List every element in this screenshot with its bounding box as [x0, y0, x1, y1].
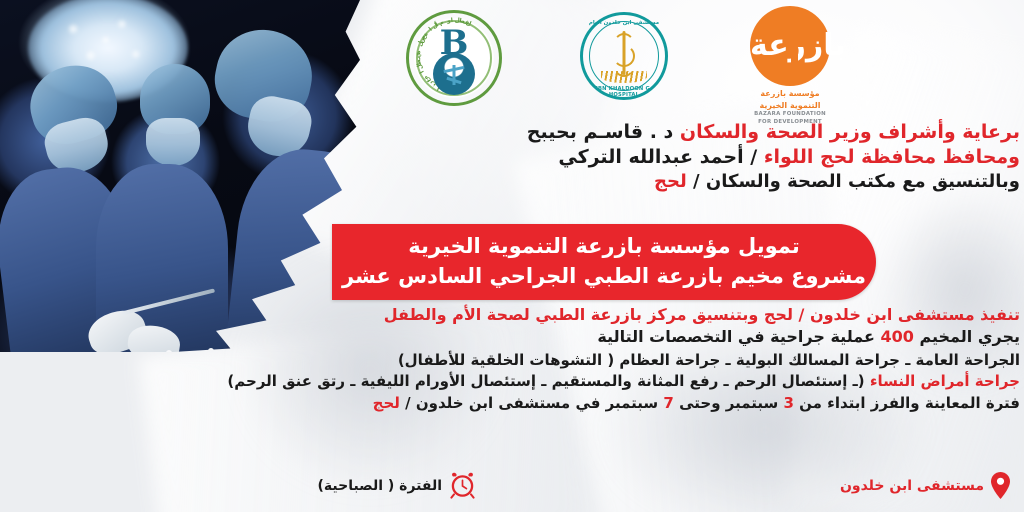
- footer-location: مستشفى ابن خلدون: [840, 472, 1010, 499]
- patronage-line-3: وبالتنسيق مع مكتب الصحة والسكان / لحج: [120, 172, 1024, 191]
- operations-suffix: عملية جراحية في التخصصات التالية: [597, 327, 875, 346]
- execution-line: تنفيذ مستشفى ابن خلدون / لحج وبتنسيق مرك…: [90, 306, 1024, 323]
- operations-count: 400: [880, 327, 913, 346]
- bazara-english-line1: BAZARA FOUNDATION: [750, 111, 830, 117]
- screening-middle: سبتمبر وحتى: [679, 394, 778, 412]
- surgical-camp-poster: مؤسسة بازرعة الطبية لصحة الأم والطفل B م…: [0, 0, 1024, 512]
- gynecology-line: جراحة أمراض النساء (ـ إستئصال الرحم ـ رف…: [90, 373, 1024, 389]
- red-banner: تمويل مؤسسة بازرعة التنموية الخيرية مشرو…: [332, 224, 876, 300]
- screening-venue: سبتمبر في مستشفى ابن خلدون /: [405, 394, 658, 412]
- screening-governorate: لحج: [373, 394, 400, 412]
- patronage-minister-name: د . قاسـم بحيبح: [527, 121, 674, 143]
- screening-start-day: 3: [784, 394, 794, 412]
- screening-period-line: فترة المعاينة والفرز ابتداء من 3 سبتمبر …: [90, 395, 1024, 411]
- logo-row: مؤسسة بازرعة الطبية لصحة الأم والطفل B م…: [390, 4, 910, 122]
- hospital-logo-english: IBN KHALDOON G. HOSPITAL: [583, 86, 665, 98]
- patronage-minister-role: برعاية وأشراف وزير الصحة والسكان: [680, 121, 1020, 143]
- logo-mother-child-foundation: مؤسسة بازرعة الطبية لصحة الأم والطفل B: [406, 10, 502, 106]
- specialties-line: الجراحة العامة ـ جراحة المسالك البولية ـ…: [90, 352, 1024, 368]
- coordination-governorate: لحج: [654, 171, 687, 192]
- banner-project-line: مشروع مخيم بازرعة الطبي الجراحي السادس ع…: [332, 257, 876, 287]
- logo-bazara-foundation: بازرعة مؤسسة بازرعة التنموية الخيرية BAZ…: [750, 6, 830, 125]
- operations-line: يجري المخيم 400 عملية جراحية في التخصصات…: [90, 328, 1024, 345]
- bazara-arabic-line1: مؤسسة بازرعة: [750, 89, 830, 98]
- patronage-separator: /: [750, 146, 757, 168]
- logo-ibn-khaldoon-hospital: مستشفى ابن خلدون العام IBN KHALDOON G. H…: [580, 12, 668, 100]
- bazara-mark-tail: [791, 52, 798, 82]
- map-pin-icon: [991, 472, 1010, 499]
- banner-funding-line: تمويل مؤسسة بازرعة التنموية الخيرية: [332, 224, 876, 257]
- hospital-logo-arabic: مستشفى ابن خلدون العام: [583, 20, 665, 26]
- patronage-line-2: ومحافظ محافظة لحج اللواء / أحمد عبدالله …: [120, 147, 1024, 168]
- patronage-block: برعاية وأشراف وزير الصحة والسكان د . قاس…: [120, 122, 1024, 193]
- patronage-line-1: برعاية وأشراف وزير الصحة والسكان د . قاس…: [120, 122, 1024, 143]
- screening-prefix: فترة المعاينة والفرز ابتداء من: [799, 394, 1020, 412]
- operations-prefix: يجري المخيم: [919, 327, 1020, 346]
- footer-time: الفترة ( الصباحية): [318, 472, 476, 499]
- screening-end-day: 7: [663, 394, 673, 412]
- bazara-arabic-line2: التنموية الخيرية: [750, 101, 830, 110]
- coordination-office: وبالتنسيق مع مكتب الصحة والسكان /: [693, 171, 1020, 192]
- gynecology-label: جراحة أمراض النساء: [870, 372, 1020, 390]
- wings-icon: [601, 71, 647, 83]
- footer-location-text: مستشفى ابن خلدون: [840, 478, 984, 494]
- patronage-governor-role: ومحافظ محافظة لحج اللواء: [764, 146, 1020, 168]
- alarm-clock-icon: [449, 472, 476, 499]
- footer-time-text: الفترة ( الصباحية): [318, 478, 442, 494]
- gynecology-procedures: (ـ إستئصال الرحم ـ رفع المثانة والمستقيم…: [227, 372, 864, 390]
- footer-bar: مستشفى ابن خلدون الفترة ( الصباحية): [0, 468, 1024, 512]
- details-block: تنفيذ مستشفى ابن خلدون / لحج وبتنسيق مرك…: [90, 306, 1024, 411]
- patronage-governor-name: أحمد عبدالله التركي: [558, 146, 743, 168]
- bazara-wordmark: بازرعة: [750, 31, 830, 61]
- logo-child-figure-icon: [453, 65, 456, 85]
